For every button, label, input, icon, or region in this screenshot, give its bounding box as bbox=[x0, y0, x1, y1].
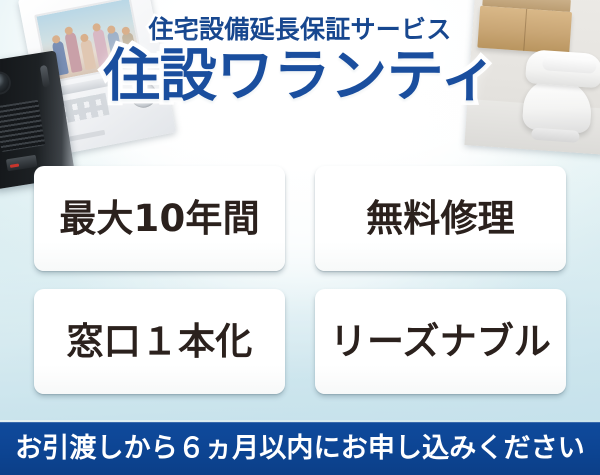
feature-label: 無料修理 bbox=[366, 200, 515, 237]
feature-box-reasonable[interactable]: リーズナブル bbox=[315, 289, 566, 394]
feature-label: 最大10年間 bbox=[59, 200, 260, 237]
feature-box-free-repair[interactable]: 無料修理 bbox=[315, 166, 566, 271]
monitor-dial bbox=[128, 79, 158, 109]
feature-box-grid: 最大10年間 無料修理 窓口１本化 リーズナブル bbox=[34, 166, 566, 394]
intercom-speaker-grille bbox=[0, 100, 45, 152]
intercom-light-strip bbox=[40, 65, 50, 88]
cabinet-divider bbox=[523, 9, 527, 51]
intercom-call-button bbox=[6, 155, 38, 172]
application-deadline-text: お引渡しから６ヵ月以内にお申し込みください bbox=[15, 435, 585, 462]
application-deadline-bar: お引渡しから６ヵ月以内にお申し込みください bbox=[0, 422, 600, 475]
feature-box-max-years[interactable]: 最大10年間 bbox=[34, 166, 285, 271]
wooden-cabinet bbox=[477, 6, 572, 54]
promo-banner: 住宅設備延長保証サービス 住設ワランティ 最大10年間 無料修理 窓口１本化 リ… bbox=[0, 0, 600, 475]
feature-box-single-contact[interactable]: 窓口１本化 bbox=[34, 289, 285, 394]
feature-label: 窓口１本化 bbox=[67, 323, 253, 360]
feature-label: リーズナブル bbox=[330, 323, 551, 360]
camera-lens-icon bbox=[0, 72, 10, 94]
toilet-bathroom-photo bbox=[465, 0, 600, 155]
